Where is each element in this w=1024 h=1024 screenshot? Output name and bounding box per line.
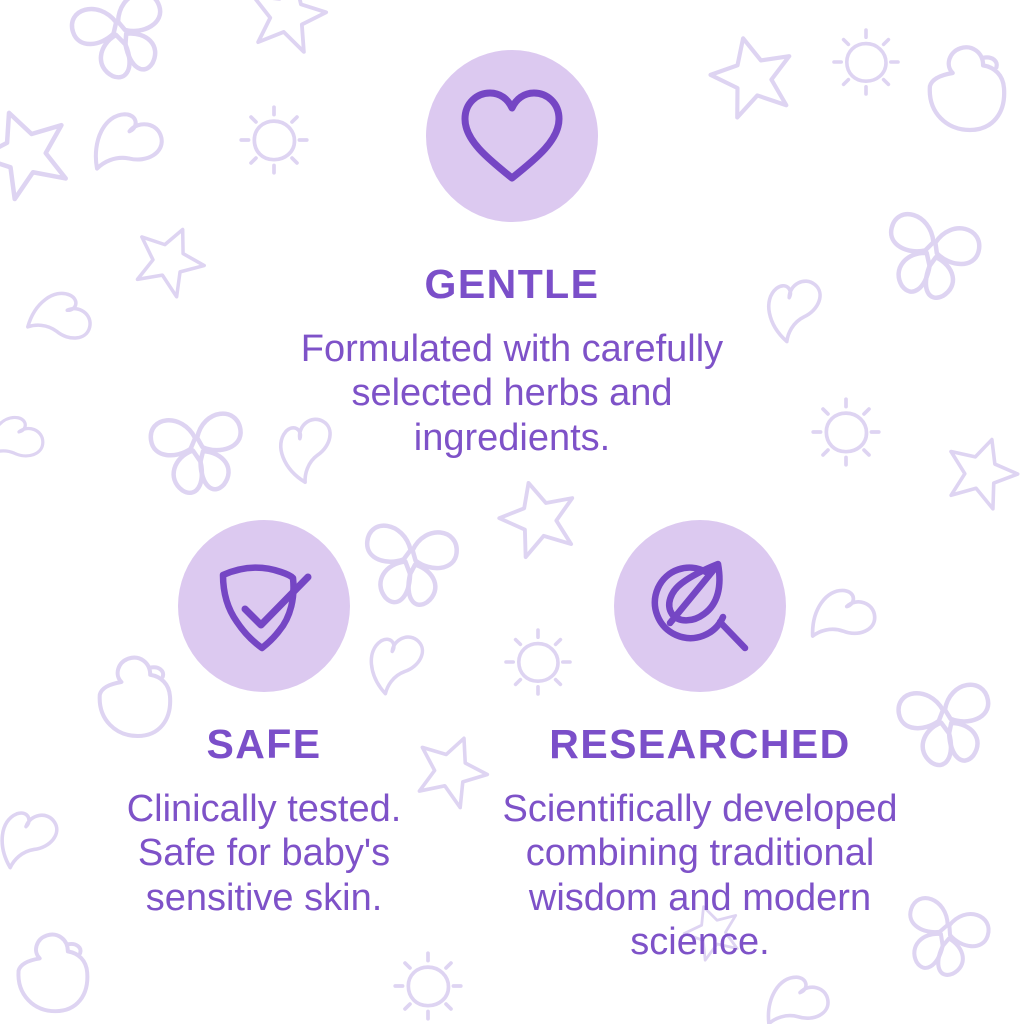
feature-safe: SAFE Clinically tested. Safe for baby's …	[24, 520, 504, 920]
researched-icon-circle	[614, 520, 786, 692]
heart-icon	[457, 86, 567, 186]
feature-description-safe: Clinically tested. Safe for baby's sensi…	[127, 787, 402, 920]
shield-check-icon	[209, 551, 319, 661]
feature-description-gentle: Formulated with carefully selected herbs…	[301, 327, 723, 460]
feature-title-safe: SAFE	[206, 724, 321, 765]
infographic-canvas: GENTLE Formulated with carefully selecte…	[0, 0, 1024, 1024]
feature-description-researched: Scientifically developed combining tradi…	[460, 787, 940, 965]
leaf-magnifier-icon	[644, 550, 756, 662]
feature-title-gentle: GENTLE	[425, 264, 600, 305]
feature-title-researched: RESEARCHED	[549, 724, 850, 765]
feature-gentle: GENTLE Formulated with carefully selecte…	[262, 50, 762, 460]
feature-researched: RESEARCHED Scientifically developed comb…	[460, 520, 940, 965]
gentle-icon-circle	[426, 50, 598, 222]
safe-icon-circle	[178, 520, 350, 692]
